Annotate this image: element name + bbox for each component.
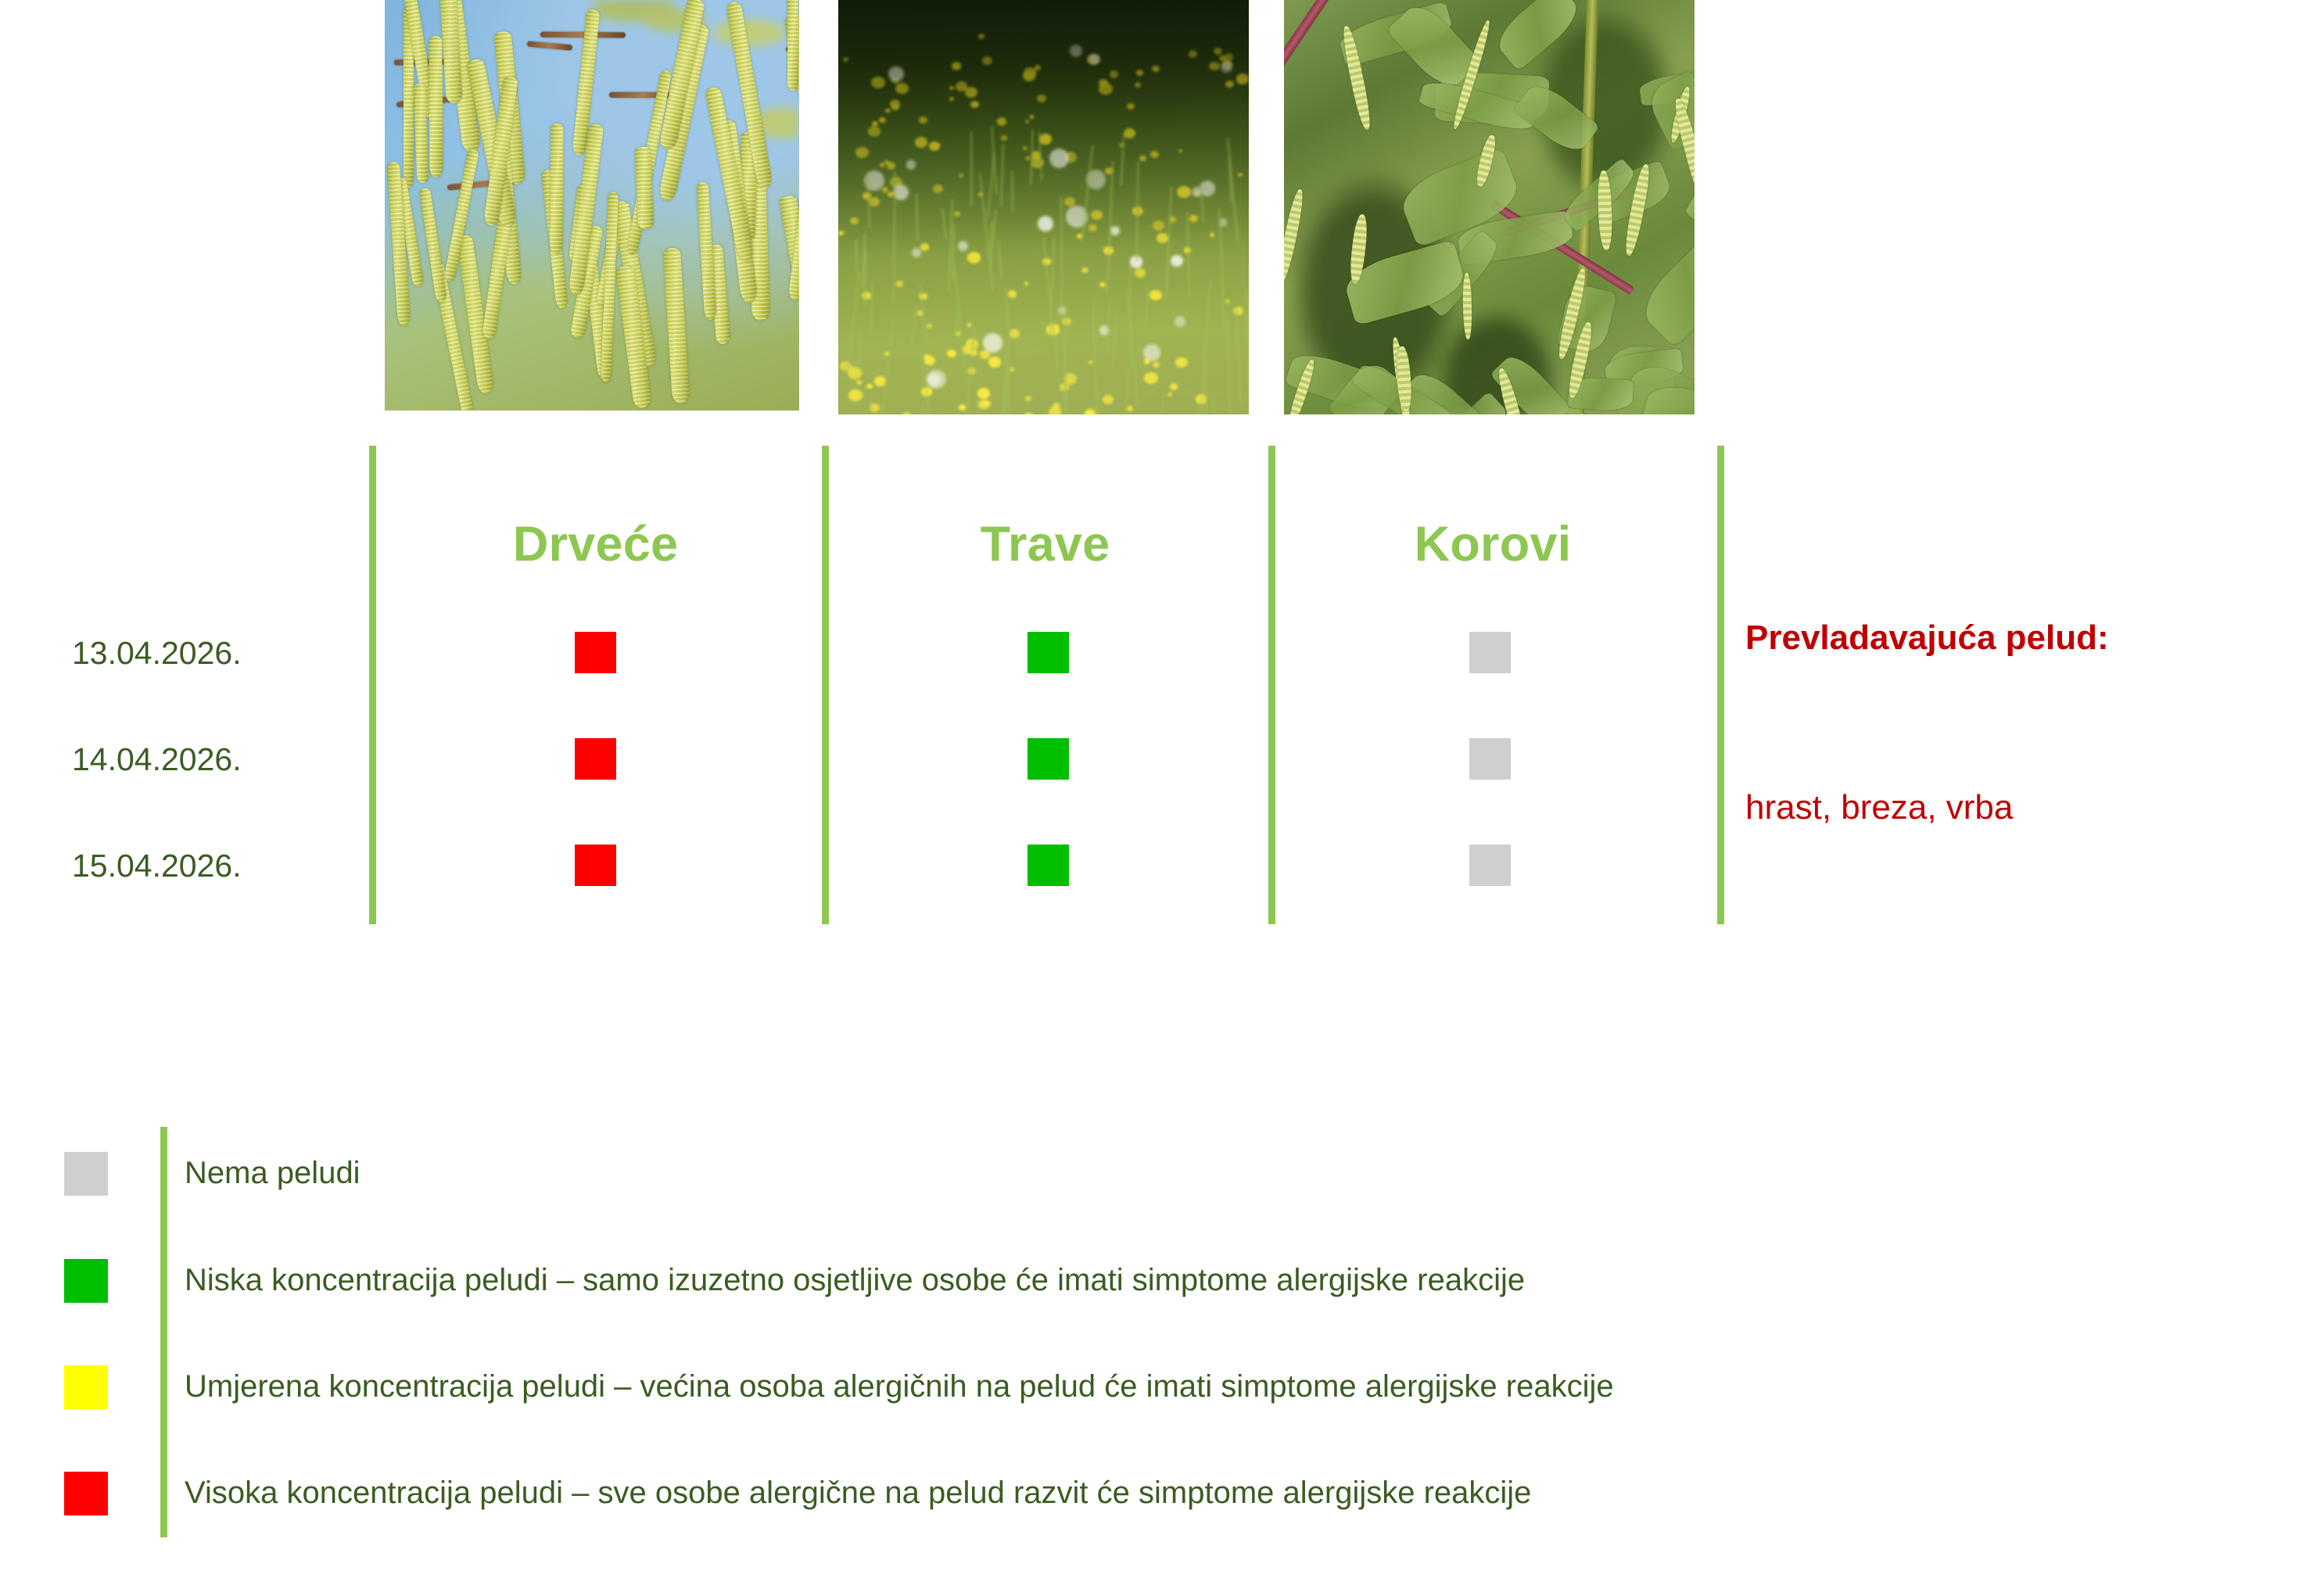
row-date-0: 13.04.2026. [72, 635, 242, 672]
status-cell-korovi-1 [1469, 738, 1511, 780]
legend-divider [160, 1127, 167, 1537]
dominant-pollen-list: hrast, breza, vrba [1745, 786, 2152, 830]
status-cell-korovi-2 [1469, 845, 1511, 886]
status-cell-trave-1 [1028, 738, 1069, 780]
photo-grasses [838, 0, 1249, 414]
pollen-forecast-panel: Drveće Trave Korovi 13.04.2026. 14.04.20… [0, 0, 2324, 1596]
legend-swatch-none [64, 1152, 108, 1196]
legend-swatch-low [64, 1259, 108, 1303]
status-cell-drvece-0 [575, 632, 616, 673]
column-header-trave: Trave [822, 516, 1268, 572]
legend-label-moderate: Umjerena koncentracija peludi – većina o… [185, 1369, 1614, 1404]
status-cell-trave-0 [1028, 632, 1069, 673]
photo-trees [385, 0, 799, 411]
photo-weeds [1284, 0, 1695, 414]
column-divider-4 [1717, 446, 1724, 924]
status-cell-korovi-0 [1469, 632, 1511, 673]
legend-label-none: Nema peludi [185, 1156, 360, 1191]
dominant-pollen-title: Prevladavajuća pelud: [1745, 616, 2152, 660]
row-date-1: 14.04.2026. [72, 741, 242, 778]
status-cell-trave-2 [1028, 845, 1069, 886]
legend-swatch-moderate [64, 1365, 108, 1409]
status-cell-drvece-2 [575, 845, 616, 886]
legend-swatch-high [64, 1472, 108, 1515]
status-cell-drvece-1 [575, 738, 616, 780]
legend-label-high: Visoka koncentracija peludi – sve osobe … [185, 1476, 1531, 1511]
column-header-drvece: Drveće [369, 516, 822, 572]
row-date-2: 15.04.2026. [72, 848, 242, 884]
legend-label-low: Niska koncentracija peludi – samo izuzet… [185, 1263, 1525, 1298]
column-header-korovi: Korovi [1268, 516, 1717, 572]
